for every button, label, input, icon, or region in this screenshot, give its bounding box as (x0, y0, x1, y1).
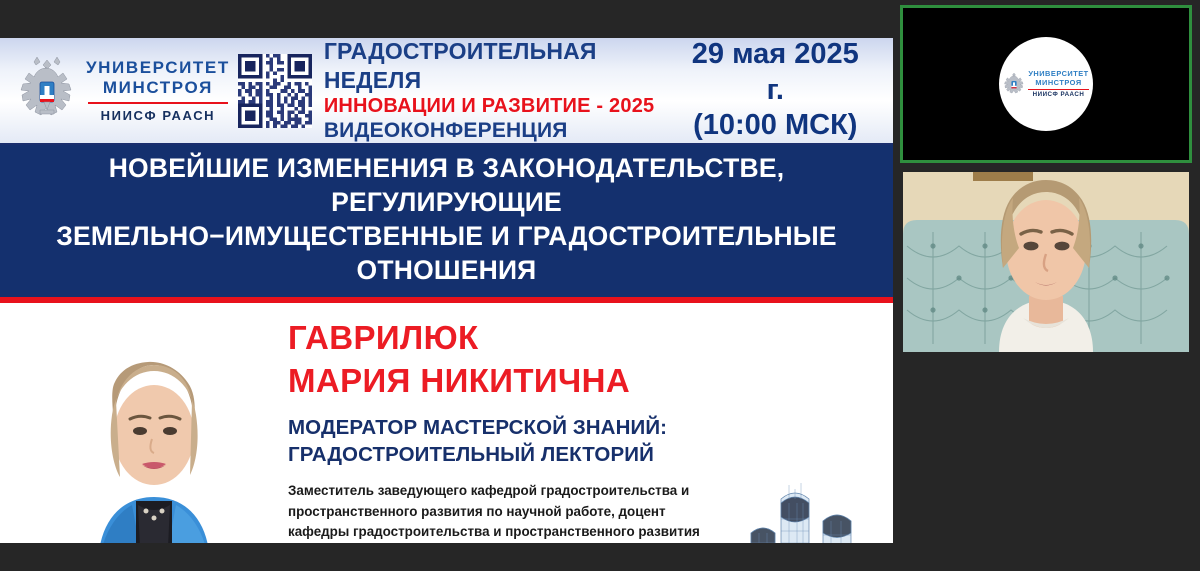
slide-body: ГАВРИЛЮК МАРИЯ НИКИТИЧНА МОДЕРАТОР МАСТЕ… (0, 303, 893, 543)
conference-title-main: ГРАДОСТРОИТЕЛЬНАЯ НЕДЕЛЯ (324, 38, 684, 94)
conference-date: 29 мая 2025 г. (684, 38, 867, 108)
speaker-bio: Заместитель заведующего кафедрой градост… (288, 481, 718, 543)
avatar: УНИВЕРСИТЕТ МИНСТРОЯ НИИСФ РААСН (999, 37, 1093, 131)
conference-titles: ГРАДОСТРОИТЕЛЬНАЯ НЕДЕЛЯ ИННОВАЦИИ И РАЗ… (324, 38, 684, 144)
topic-banner-line-1: НОВЕЙШИЕ ИЗМЕНЕНИЯ В ЗАКОНОДАТЕЛЬСТВЕ, Р… (0, 152, 893, 220)
participant-tile-webcam[interactable] (903, 172, 1189, 352)
tile-logo-content: УНИВЕРСИТЕТ МИНСТРОЯ НИИСФ РААСН (903, 8, 1189, 160)
speaker-info: ГАВРИЛЮК МАРИЯ НИКИТИЧНА МОДЕРАТОР МАСТЕ… (288, 317, 718, 543)
meeting-window: УНИВЕРСИТЕТ МИНСТРОЯ НИИСФ РААСН (0, 0, 1200, 571)
avatar-divider (1028, 89, 1088, 90)
conference-title-theme: ИННОВАЦИИ И РАЗВИТИЕ - 2025 (324, 94, 684, 118)
topic-banner-line-2: ЗЕМЕЛЬНО−ИМУЩЕСТВЕННЫЕ И ГРАДОСТРОИТЕЛЬН… (0, 220, 893, 288)
logo-line-3: НИИСФ РААСН (86, 108, 230, 123)
logo-divider (88, 102, 228, 104)
university-logo: УНИВЕРСИТЕТ МИНСТРОЯ НИИСФ РААСН (0, 52, 230, 130)
slide-header: УНИВЕРСИТЕТ МИНСТРОЯ НИИСФ РААСН (0, 38, 893, 145)
participant-tile-logo[interactable]: УНИВЕРСИТЕТ МИНСТРОЯ НИИСФ РААСН (900, 5, 1192, 163)
conference-datetime: 29 мая 2025 г. (10:00 МСК) (684, 38, 893, 144)
logo-line-1: УНИВЕРСИТЕТ (86, 58, 230, 78)
speaker-role-line-1: МОДЕРАТОР МАСТЕРСКОЙ ЗНАНИЙ: (288, 415, 718, 441)
avatar-line-3: НИИСФ РААСН (1028, 91, 1088, 98)
avatar-label: УНИВЕРСИТЕТ МИНСТРОЯ НИИСФ РААСН (1028, 70, 1088, 99)
speaker-portrait-photo-icon (38, 315, 270, 543)
conference-title-format: ВИДЕОКОНФЕРЕНЦИЯ (324, 118, 684, 144)
qr-code-icon (238, 54, 312, 128)
shared-screen-slide[interactable]: УНИВЕРСИТЕТ МИНСТРОЯ НИИСФ РААСН (0, 38, 893, 543)
conference-time: (10:00 МСК) (684, 108, 867, 143)
avatar-line-2: МИНСТРОЯ (1028, 79, 1088, 88)
double-headed-eagle-emblem-icon (1003, 70, 1025, 98)
topic-banner: НОВЕЙШИЕ ИЗМЕНЕНИЯ В ЗАКОНОДАТЕЛЬСТВЕ, Р… (0, 145, 893, 303)
webcam-video-feed-icon (903, 172, 1189, 352)
speaker-given-names: МАРИЯ НИКИТИЧНА (288, 360, 718, 403)
speaker-role-line-2: ГРАДОСТРОИТЕЛЬНЫЙ ЛЕКТОРИЙ (288, 442, 718, 468)
logo-line-2: МИНСТРОЯ (86, 78, 230, 98)
double-headed-eagle-emblem-icon (16, 52, 78, 130)
speaker-surname: ГАВРИЛЮК (288, 317, 718, 360)
city-skyline-sketch-icon (689, 473, 889, 543)
